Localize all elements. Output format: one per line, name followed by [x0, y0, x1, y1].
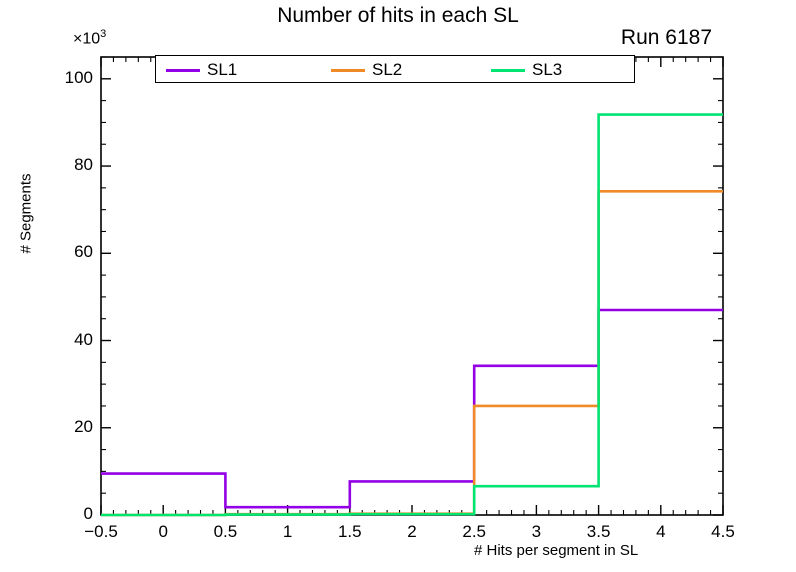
histogram-plot — [0, 0, 796, 572]
axis-ticks — [101, 57, 723, 515]
plot-frame — [101, 57, 723, 515]
legend-label: SL3 — [532, 60, 562, 80]
legend-entry-sl1[interactable]: SL1 — [166, 60, 237, 80]
x-tick-label: 3 — [501, 522, 571, 542]
legend-label: SL2 — [372, 60, 402, 80]
histogram-line-sl3 — [101, 115, 723, 515]
legend-swatch-icon — [166, 69, 200, 72]
x-tick-label: 2.5 — [439, 522, 509, 542]
x-tick-label: 1 — [253, 522, 323, 542]
x-tick-label: 0 — [128, 522, 198, 542]
plot-canvas: Number of hits in each SL Run 6187 ×103 … — [0, 0, 796, 572]
x-tick-label: 0.5 — [190, 522, 260, 542]
x-tick-label: 2 — [377, 522, 447, 542]
histogram-line-sl1 — [101, 310, 723, 507]
histogram-line-sl2 — [101, 191, 723, 515]
y-tick-label: 80 — [33, 155, 93, 175]
y-tick-label: 0 — [33, 504, 93, 524]
legend-entry-sl3[interactable]: SL3 — [491, 60, 562, 80]
y-tick-label: 60 — [33, 242, 93, 262]
x-tick-label: 4.5 — [688, 522, 758, 542]
legend-swatch-icon — [331, 69, 365, 72]
legend-swatch-icon — [491, 69, 525, 72]
x-tick-label: 4 — [626, 522, 696, 542]
histogram-series — [101, 115, 723, 515]
x-tick-label: 3.5 — [564, 522, 634, 542]
y-tick-label: 100 — [33, 68, 93, 88]
y-tick-label: 40 — [33, 330, 93, 350]
legend-entry-sl2[interactable]: SL2 — [331, 60, 402, 80]
legend: SL1SL2SL3 — [155, 55, 635, 83]
axis-frame — [101, 57, 723, 515]
x-tick-label: −0.5 — [66, 522, 136, 542]
legend-label: SL1 — [207, 60, 237, 80]
y-tick-label: 20 — [33, 417, 93, 437]
x-tick-label: 1.5 — [315, 522, 385, 542]
